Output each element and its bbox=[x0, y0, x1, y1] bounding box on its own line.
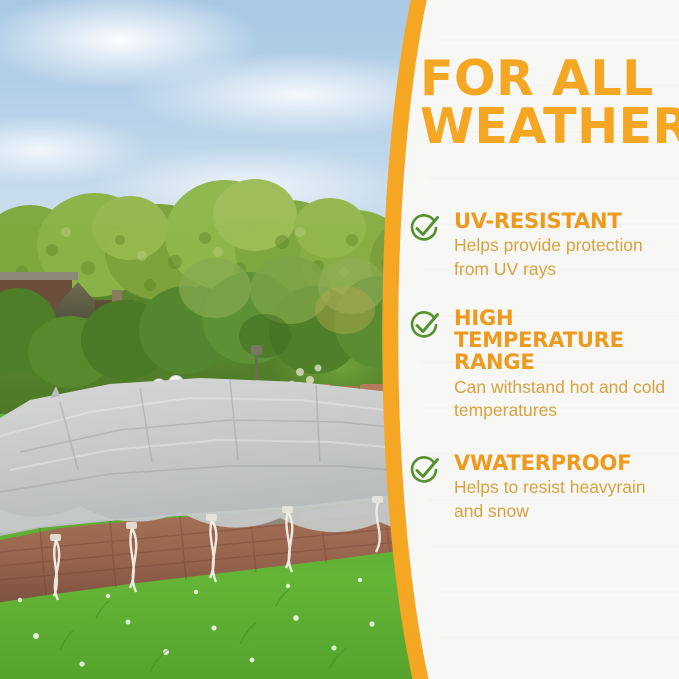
product-photo bbox=[0, 0, 420, 679]
feature-title: VWATERPROOF bbox=[454, 452, 679, 474]
feature-item-high-temperature-range: HIGH TEMPERATURE RANGE Can withstand hot… bbox=[408, 307, 679, 422]
lawn-blades bbox=[60, 589, 347, 672]
info-panel: FOR ALL WEATHER UV-RESISTANT Helps provi… bbox=[408, 0, 679, 679]
heading-line-1: FOR ALL bbox=[420, 55, 679, 103]
feature-item-waterproof: VWATERPROOF Helps to resist heavyrain an… bbox=[408, 452, 679, 523]
feature-item-uv-resistant: UV-RESISTANT Helps provide protection fr… bbox=[408, 210, 679, 281]
heading-line-2: WEATHER bbox=[420, 103, 679, 151]
feature-title: UV-RESISTANT bbox=[454, 210, 679, 232]
green-check-circle-icon bbox=[408, 309, 440, 341]
green-check-circle-icon bbox=[408, 212, 440, 244]
feature-list: UV-RESISTANT Helps provide protection fr… bbox=[408, 210, 679, 549]
feature-body: Can withstand hot and cold temperatures bbox=[454, 376, 679, 423]
feature-body: Helps provide protection from UV rays bbox=[454, 234, 679, 281]
photo-details bbox=[0, 0, 420, 679]
product-feature-poster: FOR ALL WEATHER UV-RESISTANT Helps provi… bbox=[0, 0, 679, 679]
green-check-circle-icon bbox=[408, 454, 440, 486]
feature-body: Helps to resist heavyrain and snow bbox=[454, 476, 679, 523]
page-title: FOR ALL WEATHER bbox=[420, 55, 679, 151]
feature-title: HIGH TEMPERATURE RANGE bbox=[454, 307, 679, 374]
